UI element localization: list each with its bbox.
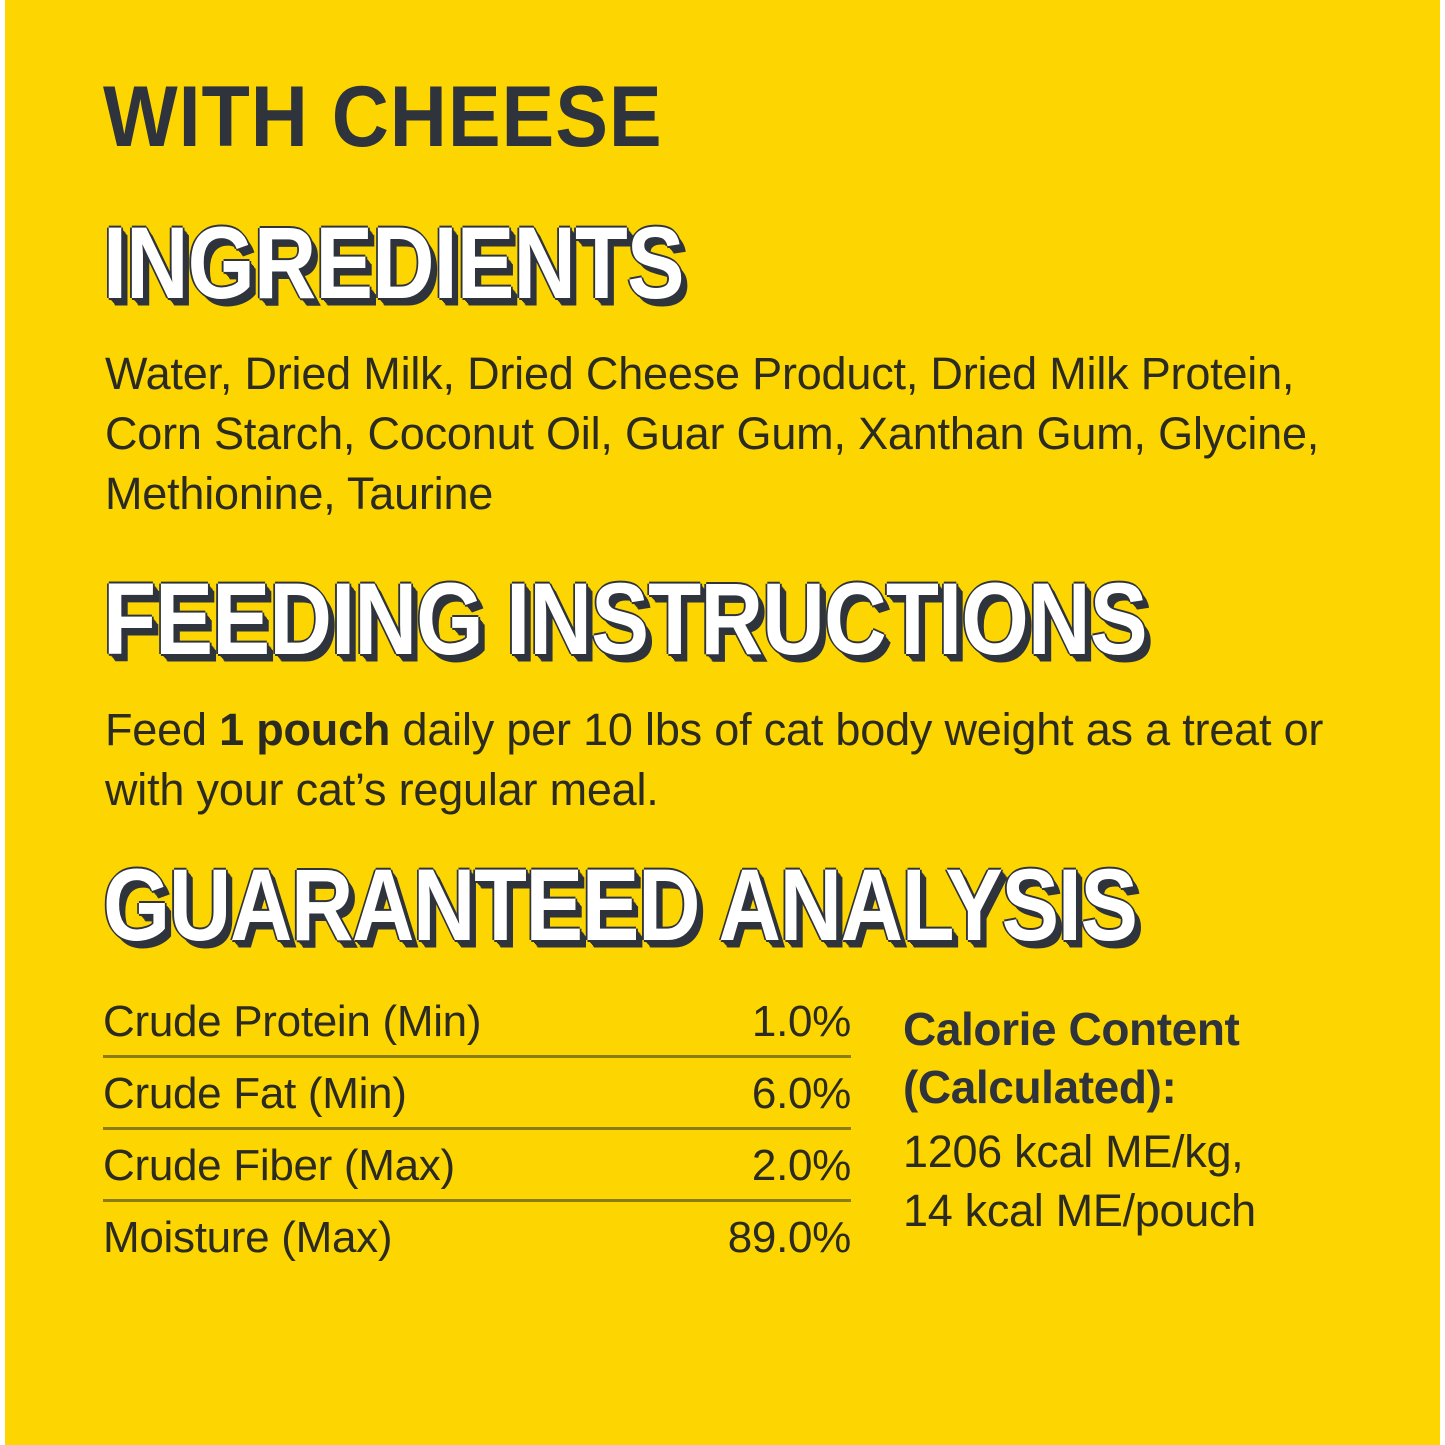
nutrient-name: Crude Fiber (Max) (103, 1129, 671, 1201)
feeding-instructions-text: Feed 1 pouch daily per 10 lbs of cat bod… (105, 700, 1345, 820)
nutrient-value: 1.0% (671, 1000, 851, 1057)
table-row: Moisture (Max) 89.0% (103, 1201, 851, 1272)
calorie-content-title-line1: Calorie Content (903, 1000, 1363, 1058)
calorie-content-title: Calorie Content (Calculated): (903, 1000, 1363, 1116)
feeding-dosage-emphasis: 1 pouch (219, 704, 390, 755)
calorie-per-kg: 1206 kcal ME/kg, (903, 1122, 1363, 1181)
table-row: Crude Fat (Min) 6.0% (103, 1057, 851, 1129)
guaranteed-analysis-table: Crude Protein (Min) 1.0% Crude Fat (Min)… (103, 1000, 851, 1271)
guaranteed-analysis-heading: GUARANTEED ANALYSIS (103, 855, 1137, 957)
product-title: WITH CHEESE (103, 74, 663, 160)
ingredients-heading: INGREDIENTS (103, 213, 684, 315)
guaranteed-analysis-table-body: Crude Protein (Min) 1.0% Crude Fat (Min)… (103, 1000, 851, 1271)
ingredients-text: Water, Dried Milk, Dried Cheese Product,… (105, 344, 1363, 524)
guaranteed-analysis-block: Crude Protein (Min) 1.0% Crude Fat (Min)… (103, 1000, 1363, 1271)
nutrient-name: Crude Fat (Min) (103, 1057, 671, 1129)
calorie-content-column: Calorie Content (Calculated): 1206 kcal … (903, 1000, 1363, 1240)
feeding-lead: Feed (105, 704, 219, 755)
nutrient-value: 89.0% (671, 1201, 851, 1272)
nutrient-name: Moisture (Max) (103, 1201, 671, 1272)
nutrient-value: 2.0% (671, 1129, 851, 1201)
table-row: Crude Fiber (Max) 2.0% (103, 1129, 851, 1201)
nutrient-name: Crude Protein (Min) (103, 1000, 671, 1057)
calorie-content-title-line2: (Calculated): (903, 1058, 1363, 1116)
nutrient-value: 6.0% (671, 1057, 851, 1129)
calorie-per-pouch: 14 kcal ME/pouch (903, 1181, 1363, 1240)
label-content: WITH CHEESE INGREDIENTS Water, Dried Mil… (103, 0, 1363, 1445)
pet-food-label-panel: WITH CHEESE INGREDIENTS Water, Dried Mil… (5, 0, 1440, 1445)
table-row: Crude Protein (Min) 1.0% (103, 1000, 851, 1057)
feeding-instructions-heading: FEEDING INSTRUCTIONS (103, 569, 1147, 671)
